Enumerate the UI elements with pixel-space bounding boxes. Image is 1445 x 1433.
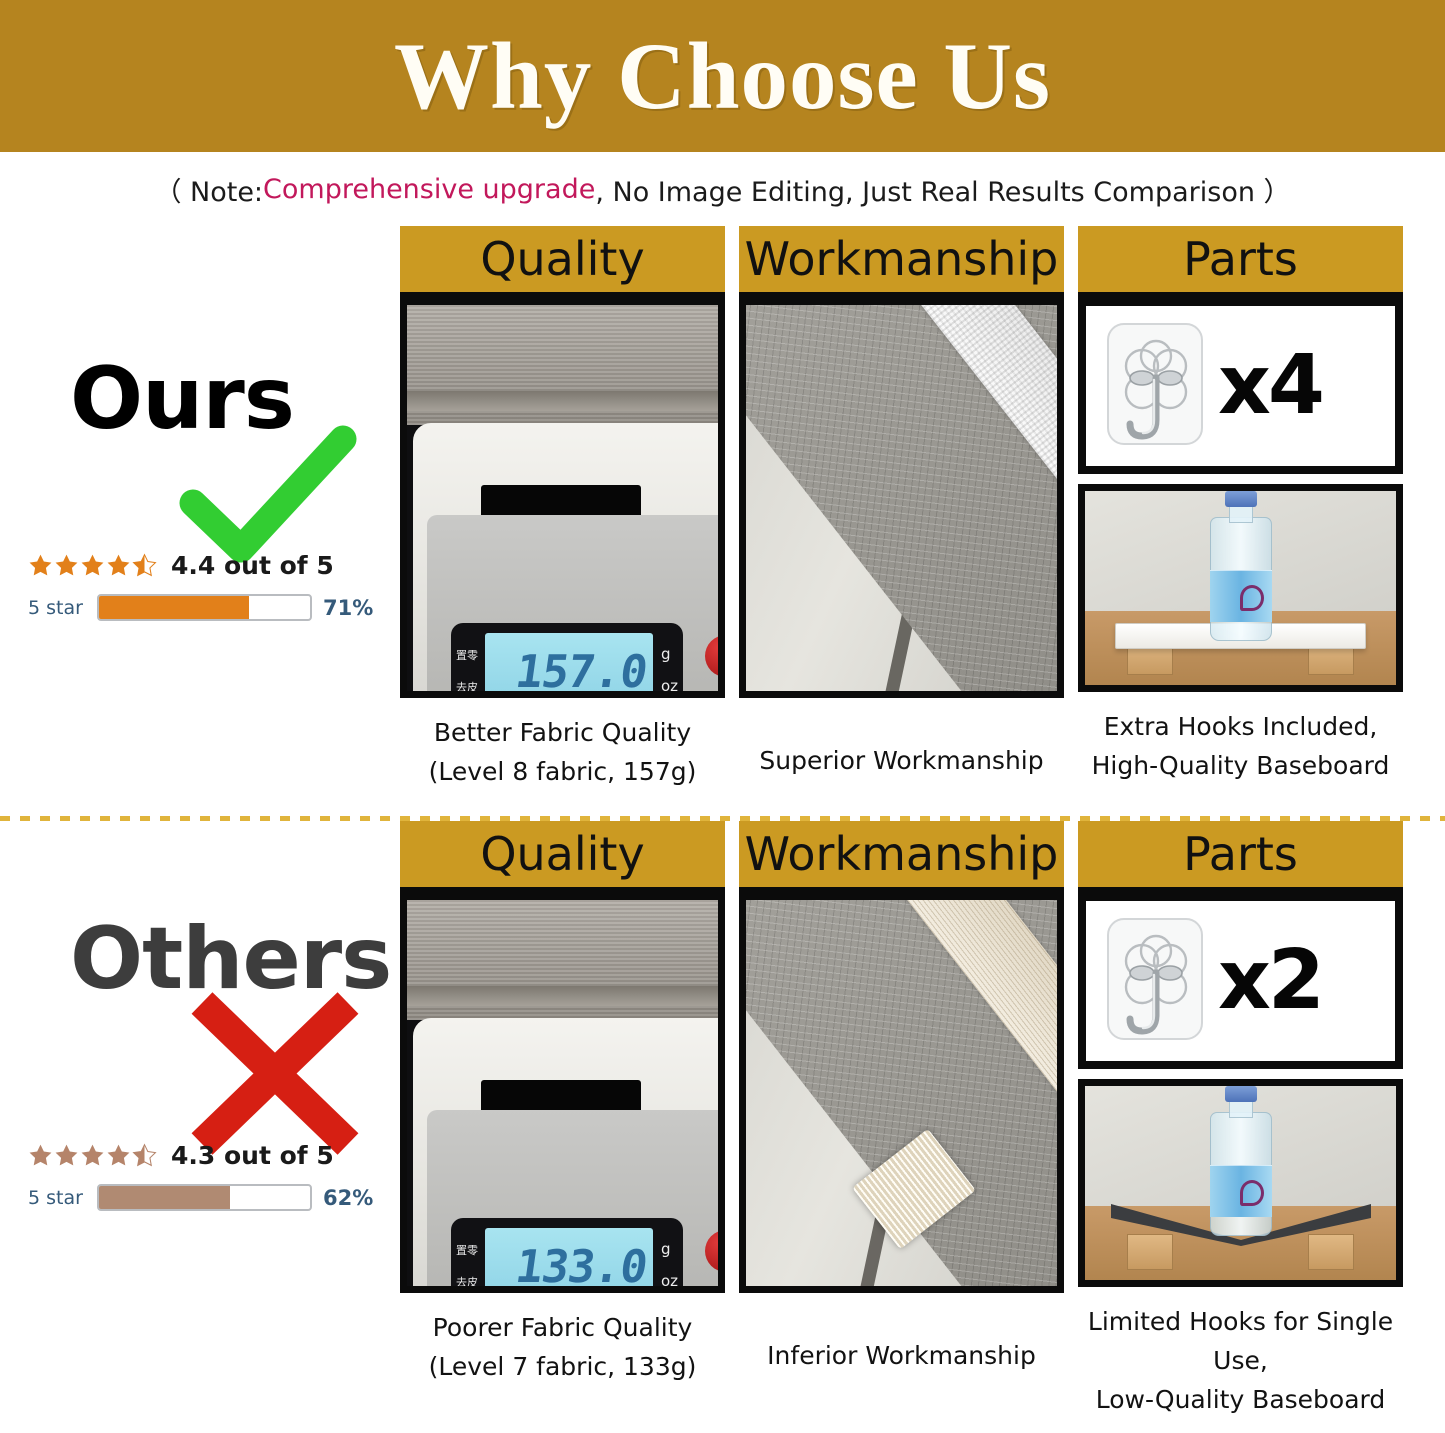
card-title-parts: Parts xyxy=(1183,236,1298,282)
caption-quality-ours: Better Fabric Quality (Level 8 fabric, 1… xyxy=(400,714,725,792)
card-title-quality: Quality xyxy=(480,236,644,282)
comparison-section-ours: Ours 4.4 out of 5 5 star xyxy=(0,226,1445,816)
photo-quality-ours: 置零 去皮 157.0 g oz xyxy=(400,298,725,698)
scale-base: 置零 去皮 133.0 g oz xyxy=(413,1018,725,1286)
scale-lcd-screen: 133.0 xyxy=(485,1228,653,1293)
scale-unit-ounces: oz xyxy=(661,1272,678,1290)
star-icon xyxy=(28,553,53,578)
rating-bar-row-ours: 5 star 71% xyxy=(28,594,378,621)
star-half-icon xyxy=(132,553,157,578)
scale-photo-others: 置零 去皮 133.0 g oz xyxy=(407,900,718,1286)
scale-reading-others: 133.0 xyxy=(512,1244,649,1289)
adhesive-hook-icon xyxy=(1100,911,1212,1051)
bottle-cap xyxy=(1225,1086,1257,1102)
scale-lcd-screen: 157.0 xyxy=(485,633,653,698)
card-header-quality-others: Quality xyxy=(400,821,725,893)
rating-progress-fill-ours xyxy=(99,596,249,619)
scale-zero-label: 置零 xyxy=(456,1242,478,1258)
card-title-quality: Quality xyxy=(480,831,644,877)
star-rating-ours xyxy=(28,553,157,578)
header-banner: Why Choose Us xyxy=(0,0,1445,152)
caption-line-2: (Level 8 fabric, 157g) xyxy=(400,753,725,792)
card-quality-others: Quality 置零 去皮 133.0 xyxy=(400,821,725,1411)
bar-percent-others: 62% xyxy=(323,1186,373,1210)
note-accent-text: Comprehensive upgrade xyxy=(263,174,595,205)
scale-unit-grams: g xyxy=(661,1240,671,1258)
water-bottle xyxy=(1210,491,1272,641)
scale-unit-ounces: oz xyxy=(661,677,678,695)
rating-block-ours: 4.4 out of 5 5 star 71% xyxy=(28,551,378,621)
note-prefix: （ Note: xyxy=(154,170,263,209)
card-header-workmanship-others: Workmanship xyxy=(739,821,1064,893)
bar-label-others: 5 star xyxy=(28,1187,86,1209)
bar-percent-ours: 71% xyxy=(323,596,373,620)
scale-reading-ours: 157.0 xyxy=(512,649,649,694)
baseboard-scene-others xyxy=(1085,1086,1396,1280)
caption-parts-others: Limited Hooks for Single Use, Low-Qualit… xyxy=(1078,1303,1403,1419)
star-icon xyxy=(80,553,105,578)
caption-line-1: Poorer Fabric Quality xyxy=(400,1309,725,1348)
photo-workmanship-ours xyxy=(739,298,1064,698)
adhesive-hook-icon xyxy=(1100,316,1212,456)
bottle-label xyxy=(1210,1165,1272,1217)
rating-progress-fill-others xyxy=(99,1186,230,1209)
scale-top-strip xyxy=(481,485,641,519)
bottle-body xyxy=(1210,517,1272,641)
card-title-workmanship: Workmanship xyxy=(745,831,1059,877)
card-workmanship-ours: Workmanship Superior Workmanship xyxy=(739,226,1064,816)
others-cards: Quality 置零 去皮 133.0 xyxy=(400,821,1410,1411)
scale-tare-label: 去皮 xyxy=(456,679,478,695)
photo-quality-others: 置零 去皮 133.0 g oz xyxy=(400,893,725,1293)
hook-count-ours: x4 xyxy=(1218,345,1322,427)
rating-progress-bar-others[interactable] xyxy=(97,1184,312,1211)
scale-top-strip xyxy=(481,1080,641,1114)
card-workmanship-others: Workmanship Inferior Workmanship xyxy=(739,821,1064,1411)
caption-line-1: Inferior Workmanship xyxy=(739,1337,1064,1376)
caption-line-1: Better Fabric Quality xyxy=(400,714,725,753)
caption-line-1: Limited Hooks for Single Use, xyxy=(1078,1303,1403,1381)
caption-line-1: Superior Workmanship xyxy=(739,742,1064,781)
rating-progress-bar-ours[interactable] xyxy=(97,594,312,621)
caption-line-2: (Level 7 fabric, 133g) xyxy=(400,1348,725,1387)
rating-value-others: 4.3 out of 5 xyxy=(171,1141,334,1170)
hook-count-others: x2 xyxy=(1218,940,1322,1022)
workmanship-photo-others xyxy=(746,900,1057,1286)
bottle-cap xyxy=(1225,491,1257,507)
caption-line-1: Extra Hooks Included, xyxy=(1078,708,1403,747)
star-icon xyxy=(28,1143,53,1168)
rating-bar-row-others: 5 star 62% xyxy=(28,1184,378,1211)
comparison-section-others: Others 4.3 out of 5 5 star xyxy=(0,821,1445,1411)
caption-line-2: Low-Quality Baseboard xyxy=(1078,1381,1403,1420)
baseboard-scene-ours xyxy=(1085,491,1396,685)
workmanship-photo-ours xyxy=(746,305,1057,691)
caption-workmanship-ours: Superior Workmanship xyxy=(739,742,1064,781)
scale-lcd-housing: 置零 去皮 157.0 g oz xyxy=(451,623,683,698)
card-parts-ours: Parts x4 xyxy=(1078,226,1403,816)
caption-line-2: High-Quality Baseboard xyxy=(1078,747,1403,786)
ours-summary-column: Ours 4.4 out of 5 5 star xyxy=(0,226,400,816)
scale-control-panel: 置零 去皮 157.0 g oz xyxy=(427,515,725,698)
caption-parts-ours: Extra Hooks Included, High-Quality Baseb… xyxy=(1078,708,1403,786)
caption-quality-others: Poorer Fabric Quality (Level 7 fabric, 1… xyxy=(400,1309,725,1387)
others-summary-column: Others 4.3 out of 5 5 star xyxy=(0,821,400,1411)
card-quality-ours: Quality 置零 去皮 157.0 xyxy=(400,226,725,816)
card-title-workmanship: Workmanship xyxy=(745,236,1059,282)
hook-panel-ours: x4 xyxy=(1078,298,1403,474)
ours-cards: Quality 置零 去皮 157.0 xyxy=(400,226,1410,816)
star-icon xyxy=(106,1143,131,1168)
card-parts-others: Parts x2 xyxy=(1078,821,1403,1411)
card-title-parts: Parts xyxy=(1183,831,1298,877)
fabric-sample xyxy=(407,305,718,425)
page-title: Why Choose Us xyxy=(394,29,1051,124)
hook-panel-others: x2 xyxy=(1078,893,1403,1069)
scale-control-panel: 置零 去皮 133.0 g oz xyxy=(427,1110,725,1293)
scale-photo-ours: 置零 去皮 157.0 g oz xyxy=(407,305,718,691)
scale-zero-label: 置零 xyxy=(456,647,478,663)
fabric-sample xyxy=(407,900,718,1020)
scale-lcd-housing: 置零 去皮 133.0 g oz xyxy=(451,1218,683,1293)
card-header-quality-ours: Quality xyxy=(400,226,725,298)
water-bottle xyxy=(1210,1086,1272,1236)
card-header-parts-ours: Parts xyxy=(1078,226,1403,298)
star-icon xyxy=(54,553,79,578)
scale-unit-grams: g xyxy=(661,645,671,663)
bottle-body xyxy=(1210,1112,1272,1236)
star-half-icon xyxy=(132,1143,157,1168)
star-rating-row-others: 4.3 out of 5 xyxy=(28,1141,378,1170)
star-rating-others xyxy=(28,1143,157,1168)
cross-mark-icon xyxy=(180,981,370,1166)
note-suffix: , No Image Editing, Just Real Results Co… xyxy=(595,170,1290,209)
note-text: （ Note: Comprehensive upgrade, No Image … xyxy=(0,152,1445,226)
photo-workmanship-others xyxy=(739,893,1064,1293)
star-rating-row-ours: 4.4 out of 5 xyxy=(28,551,378,580)
bar-label-ours: 5 star xyxy=(28,597,86,619)
scale-power-button xyxy=(705,635,725,677)
rating-value-ours: 4.4 out of 5 xyxy=(171,551,334,580)
card-header-parts-others: Parts xyxy=(1078,821,1403,893)
caption-workmanship-others: Inferior Workmanship xyxy=(739,1337,1064,1376)
star-icon xyxy=(80,1143,105,1168)
scale-tare-label: 去皮 xyxy=(456,1274,478,1290)
star-icon xyxy=(106,553,131,578)
rating-block-others: 4.3 out of 5 5 star 62% xyxy=(28,1141,378,1211)
star-icon xyxy=(54,1143,79,1168)
scale-power-button xyxy=(705,1230,725,1272)
scale-base: 置零 去皮 157.0 g oz xyxy=(413,423,725,691)
card-header-workmanship-ours: Workmanship xyxy=(739,226,1064,298)
photo-baseboard-others xyxy=(1078,1079,1403,1287)
bottle-label xyxy=(1210,570,1272,622)
photo-baseboard-ours xyxy=(1078,484,1403,692)
check-mark-icon xyxy=(175,421,360,571)
